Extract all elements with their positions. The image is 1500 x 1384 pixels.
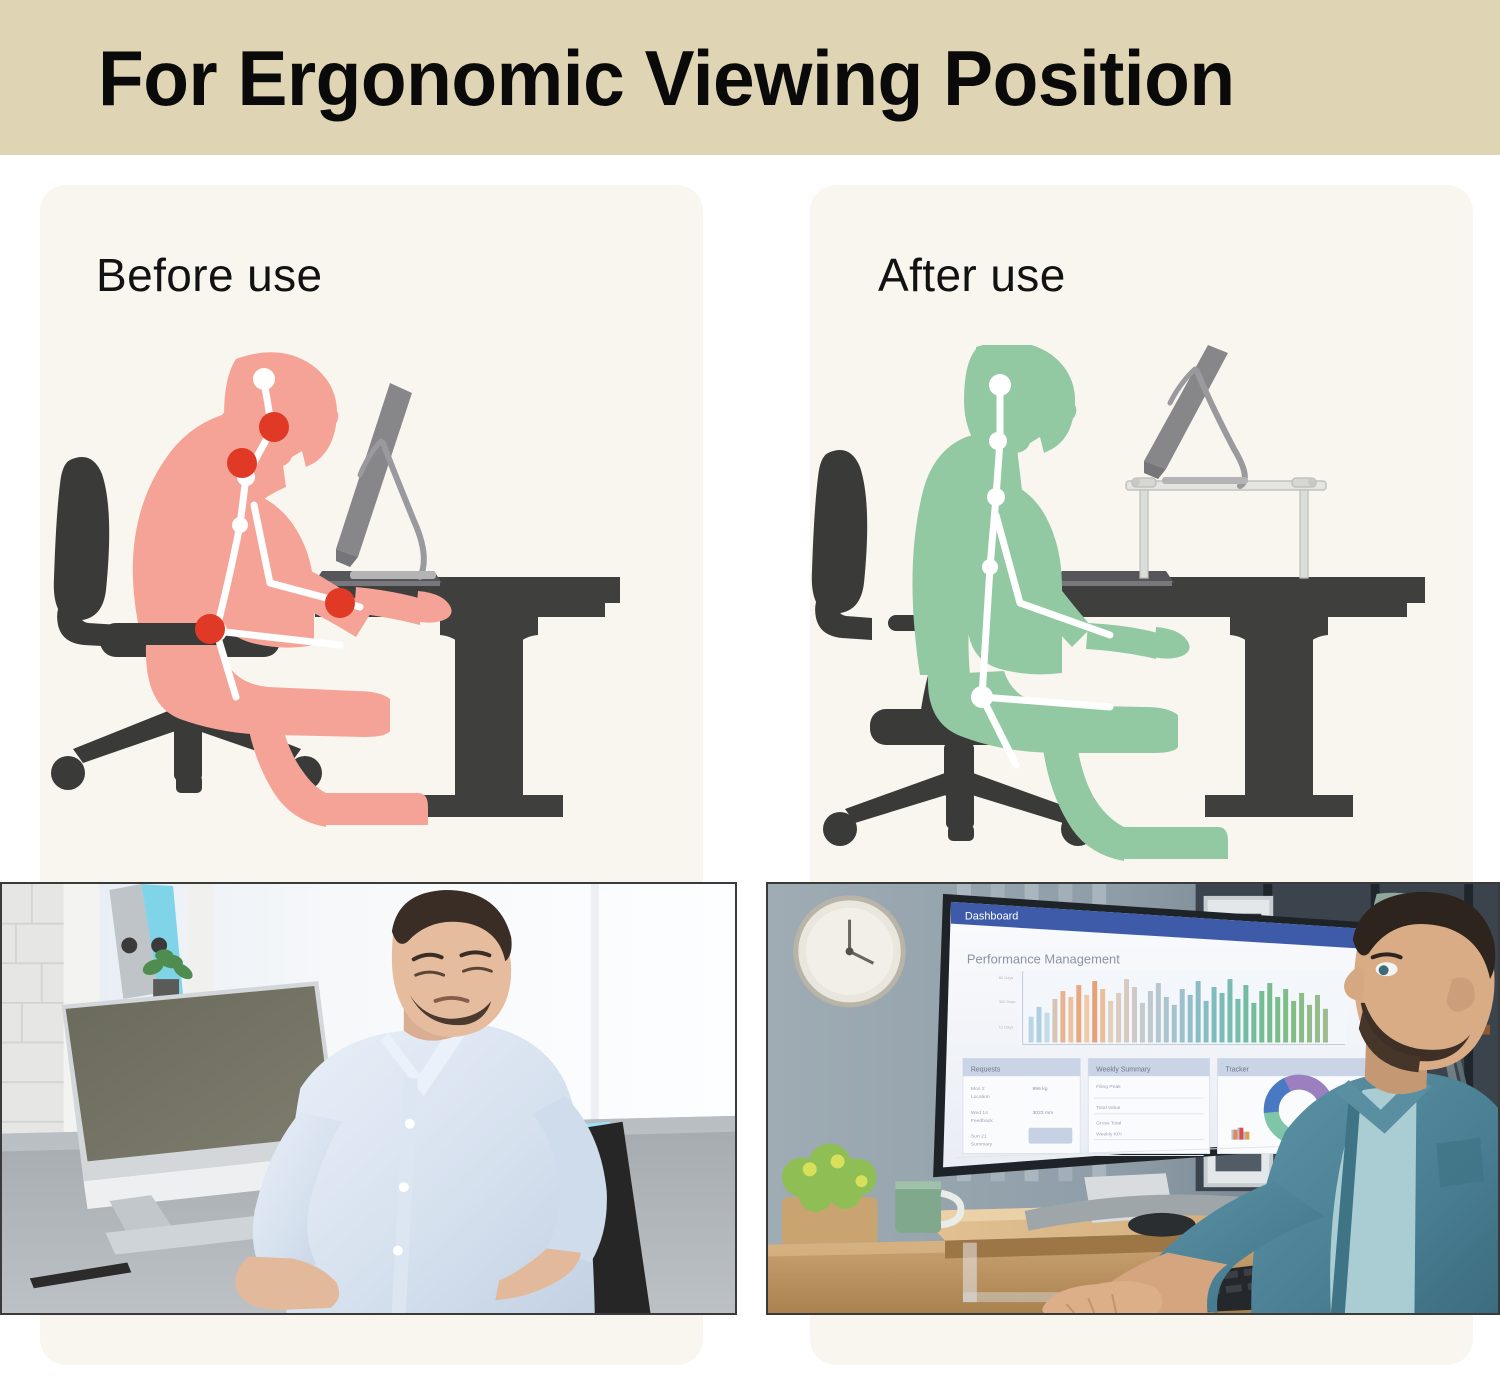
svg-text:Sun 21: Sun 21	[971, 1134, 987, 1140]
svg-text:Location: Location	[971, 1094, 990, 1100]
illustration-before-use	[40, 345, 703, 865]
pain-marker-neck	[259, 412, 289, 442]
svg-text:Filing Peak: Filing Peak	[1096, 1084, 1121, 1090]
svg-text:Requests: Requests	[971, 1066, 1001, 1073]
svg-text:Gross Total: Gross Total	[1096, 1121, 1121, 1127]
photo-after-use: Dashboard Performance Management	[766, 882, 1500, 1315]
screen-subtitle: Performance Management	[967, 951, 1120, 966]
svg-text:Weekly KPI: Weekly KPI	[1096, 1132, 1122, 1138]
pain-marker-elbow	[325, 588, 355, 618]
screen-title: Dashboard	[965, 911, 1018, 923]
svg-text:80 Days: 80 Days	[999, 975, 1014, 980]
pain-marker-shoulder	[227, 448, 257, 478]
svg-text:Summary: Summary	[971, 1142, 993, 1148]
svg-text:Total Value: Total Value	[1096, 1105, 1120, 1111]
page-title: For Ergonomic Viewing Position	[98, 39, 1235, 117]
wall-clock	[796, 898, 903, 1005]
svg-text:Mon 2: Mon 2	[971, 1086, 985, 1092]
svg-text:Wed 14: Wed 14	[971, 1110, 988, 1116]
svg-text:12 Days: 12 Days	[999, 1025, 1014, 1030]
monitor-after	[1144, 345, 1248, 486]
monitor-riser-after	[1126, 478, 1326, 578]
panel-label-before: Before use	[96, 248, 322, 302]
panel-label-after: After use	[878, 248, 1066, 302]
svg-text:300 Days: 300 Days	[999, 999, 1016, 1004]
monitor-before	[336, 383, 436, 579]
svg-text:Tracker: Tracker	[1225, 1066, 1249, 1073]
header-band: For Ergonomic Viewing Position	[0, 0, 1500, 155]
svg-text:3022 mm: 3022 mm	[1033, 1110, 1054, 1116]
photo-before-use	[0, 882, 737, 1315]
svg-text:Feedback: Feedback	[971, 1118, 993, 1124]
pain-marker-lower-back	[195, 614, 225, 644]
svg-text:Weekly Summary: Weekly Summary	[1096, 1066, 1151, 1073]
svg-text:996 kg: 996 kg	[1033, 1086, 1048, 1092]
illustration-after-use	[810, 345, 1473, 865]
